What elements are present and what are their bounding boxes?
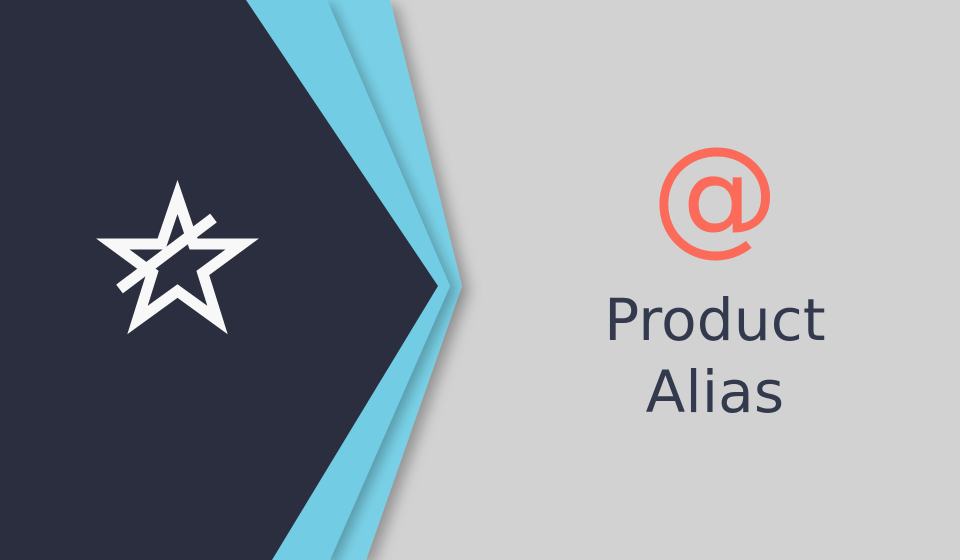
page-title-line-1: Product: [604, 285, 826, 357]
at-sign-icon: @: [651, 131, 779, 259]
brand-content-block: @ Product Alias: [470, 0, 960, 560]
page-title-line-2: Alias: [604, 357, 826, 429]
page-title: Product Alias: [604, 285, 826, 429]
slide-canvas: @ Product Alias: [0, 0, 960, 560]
